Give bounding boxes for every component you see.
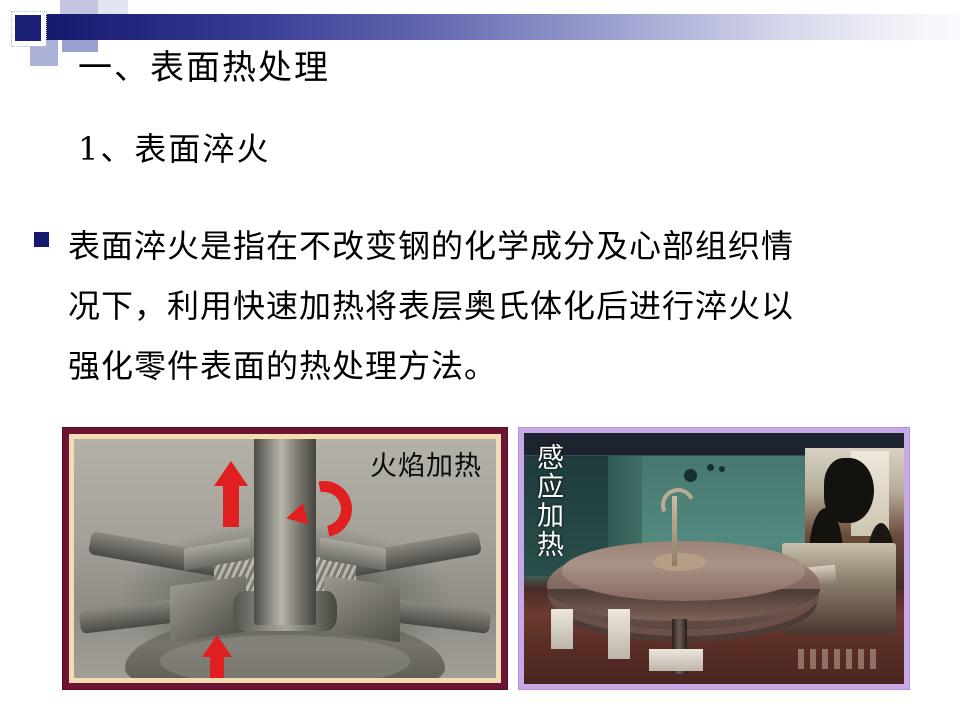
figure-flame-heating-frame: 火焰加热 bbox=[69, 434, 501, 683]
bullet-paragraph: 表面淬火是指在不改变钢的化学成分及心部组织情 况下，利用快速加热将表层奥氏体化后… bbox=[34, 216, 934, 396]
square-bullet-icon bbox=[34, 232, 49, 247]
body-line-2: 况下，利用快速加热将表层奥氏体化后进行淬火以 bbox=[68, 276, 934, 336]
page-title: 一、表面热处理 bbox=[78, 46, 330, 90]
figure-induction-heating[interactable]: 感应加热 bbox=[518, 427, 910, 690]
body-line-3: 强化零件表面的热处理方法。 bbox=[68, 336, 934, 396]
floor-marking bbox=[798, 649, 882, 669]
red-rotation-arrow-icon bbox=[286, 481, 338, 527]
support-leg-1 bbox=[551, 609, 574, 649]
workpiece-disc-top bbox=[562, 541, 805, 601]
induction-heating-photo: 感应加热 bbox=[524, 433, 904, 684]
figure-label-induction-heating: 感应加热 bbox=[532, 443, 563, 559]
wall-dots bbox=[684, 463, 745, 493]
support-leg-3 bbox=[649, 649, 702, 672]
figure-flame-heating[interactable]: 火焰加热 bbox=[62, 427, 508, 690]
header-square-outline bbox=[11, 11, 47, 47]
header-bar-cap bbox=[46, 14, 56, 40]
section-subtitle: 1、表面淬火 bbox=[78, 128, 270, 170]
bullet-body-text: 表面淬火是指在不改变钢的化学成分及心部组织情 况下，利用快速加热将表层奥氏体化后… bbox=[68, 216, 934, 396]
slide-canvas: 一、表面热处理 1、表面淬火 表面淬火是指在不改变钢的化学成分及心部组织情 况下… bbox=[0, 0, 960, 720]
figure-label-flame-heating: 火焰加热 bbox=[370, 451, 482, 483]
header-square-pale-top bbox=[98, 0, 128, 14]
machine-base-shadow bbox=[160, 635, 410, 678]
figure-induction-heating-frame: 感应加热 bbox=[524, 433, 904, 684]
flame-heating-illustration: 火焰加热 bbox=[74, 439, 496, 678]
central-shaft bbox=[254, 439, 316, 625]
support-leg-2 bbox=[608, 609, 631, 659]
body-line-1: 表面淬火是指在不改变钢的化学成分及心部组织情 bbox=[68, 216, 934, 276]
header-gradient-bar bbox=[46, 14, 960, 40]
